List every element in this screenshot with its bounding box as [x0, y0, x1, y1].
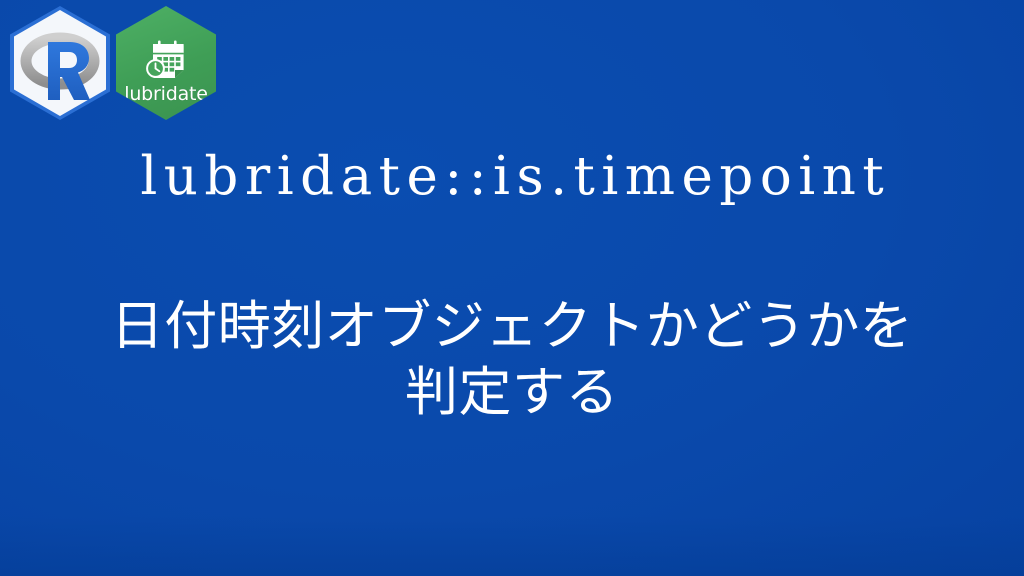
page-title: lubridate::is.timepoint	[0, 146, 1024, 208]
calendar-clock-icon	[143, 40, 189, 80]
page-subtitle-line-1: 日付時刻オブジェクトかどうかを	[0, 294, 1024, 360]
page-subtitle: 日付時刻オブジェクトかどうかを 判定する	[0, 294, 1024, 426]
logo-row: lubridate	[10, 6, 216, 120]
r-logo	[10, 6, 110, 120]
slide: lubridate lubridate::is.timepoint 日付時刻オブ…	[0, 0, 1024, 576]
r-letter-icon	[10, 6, 110, 120]
page-subtitle-line-2: 判定する	[0, 360, 1024, 426]
lubridate-logo: lubridate	[116, 6, 216, 120]
lubridate-logo-label: lubridate	[124, 85, 208, 104]
